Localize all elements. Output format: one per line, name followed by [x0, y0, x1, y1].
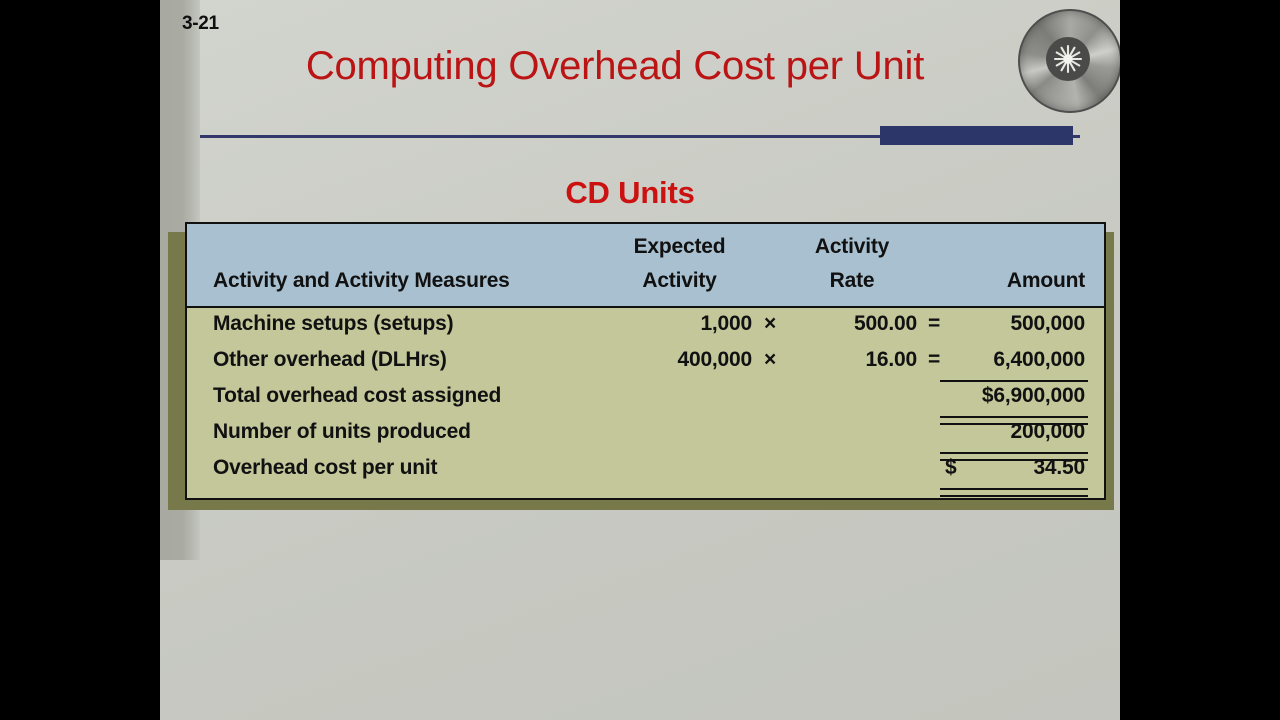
overhead-cost-table: Activity and Activity Measures Expected … [185, 222, 1106, 500]
row-activity-rate: 500.00 [787, 312, 917, 336]
row-amount: $6,900,000 [945, 384, 1085, 408]
row-amount: 34.50 [945, 456, 1085, 480]
row-activity-rate: 16.00 [787, 348, 917, 372]
cd-disc-icon [1018, 9, 1120, 113]
presentation-slide: 3-21 Computing Overhead Cost per Unit [160, 0, 1120, 720]
row-label: Total overhead cost assigned [213, 384, 501, 408]
row-label: Other overhead (DLHrs) [213, 348, 447, 372]
row-expected-activity: 400,000 [607, 348, 752, 372]
column-header-activity-measures: Activity and Activity Measures [213, 269, 510, 293]
section-subheading: CD Units [200, 175, 1060, 211]
table-row: Machine setups (setups) 1,000 × 500.00 =… [187, 312, 1104, 348]
table-row: Overhead cost per unit $ 34.50 [187, 456, 1104, 492]
screen: 3-21 Computing Overhead Cost per Unit [0, 0, 1280, 720]
row-amount: 500,000 [945, 312, 1085, 336]
multiply-operator: × [759, 312, 781, 336]
column-header-rate-line1: Activity [787, 235, 917, 259]
row-amount: 6,400,000 [945, 348, 1085, 372]
equals-operator: = [923, 312, 945, 336]
slide-number: 3-21 [182, 13, 219, 35]
multiply-operator: × [759, 348, 781, 372]
column-header-rate-line2: Rate [787, 269, 917, 293]
row-label: Number of units produced [213, 420, 471, 444]
column-header-expected-line1: Expected [607, 235, 752, 259]
row-label: Machine setups (setups) [213, 312, 453, 336]
table-row: Total overhead cost assigned $6,900,000 [187, 384, 1104, 420]
row-label: Overhead cost per unit [213, 456, 437, 480]
grand-total-rule [940, 488, 1088, 497]
column-header-amount: Amount [945, 269, 1085, 293]
table-row: Other overhead (DLHrs) 400,000 × 16.00 =… [187, 348, 1104, 384]
row-amount: 200,000 [945, 420, 1085, 444]
subtotal-rule [940, 380, 1088, 382]
table-header: Activity and Activity Measures Expected … [187, 224, 1104, 308]
table-body: Machine setups (setups) 1,000 × 500.00 =… [187, 308, 1104, 500]
row-expected-activity: 1,000 [607, 312, 752, 336]
equals-operator: = [923, 348, 945, 372]
cd-hub-starburst-icon [1052, 43, 1084, 75]
title-divider-block [880, 126, 1073, 145]
page-title: Computing Overhead Cost per Unit [200, 41, 1030, 91]
table-row: Number of units produced 200,000 [187, 420, 1104, 456]
column-header-expected-line2: Activity [607, 269, 752, 293]
